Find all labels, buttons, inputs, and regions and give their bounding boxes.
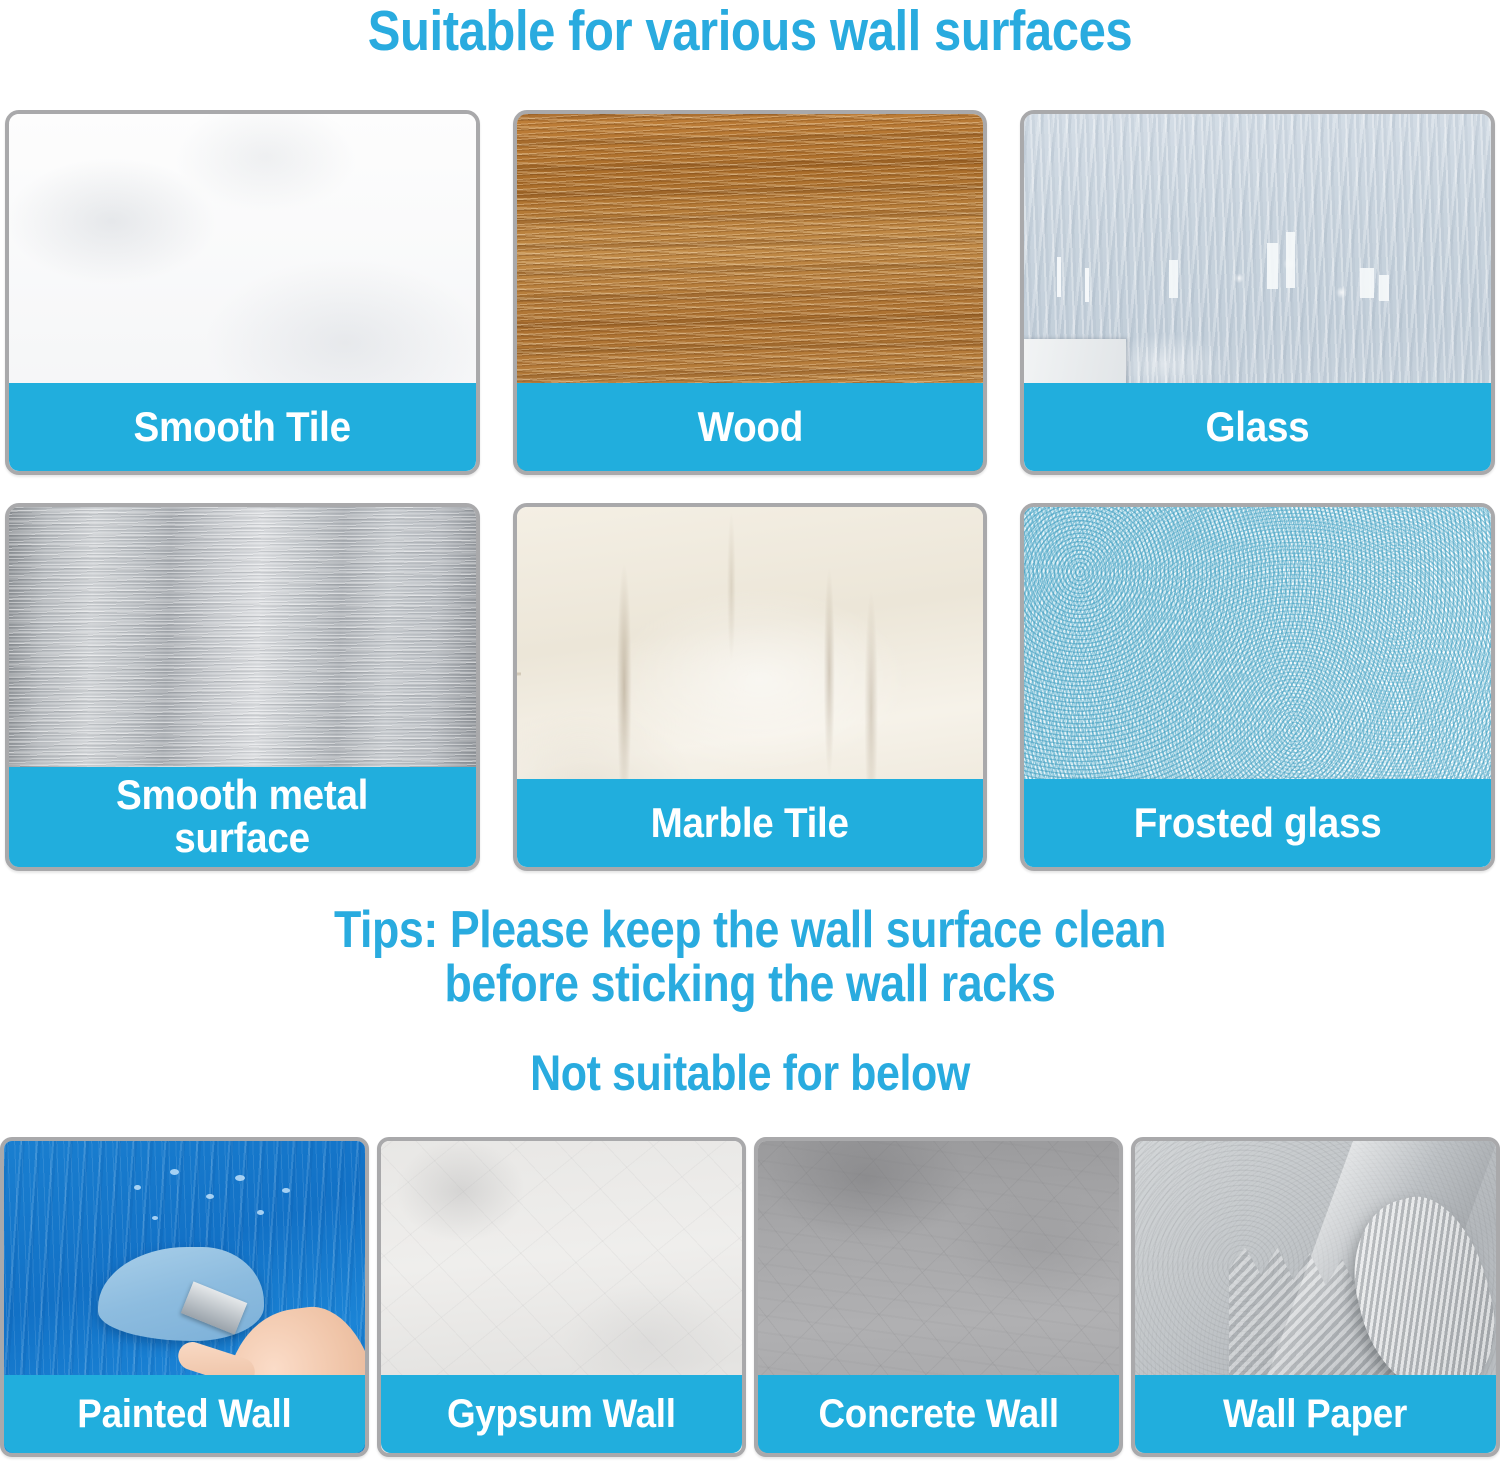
caption-label: Frosted glass (1134, 802, 1382, 845)
page-title-row: Suitable for various wall surfaces (0, 2, 1500, 61)
glass-building-decor (1169, 260, 1178, 298)
surface-card-smooth-tile[interactable]: Smooth Tile (5, 110, 480, 475)
tips-row: Tips: Please keep the wall surface clean… (0, 903, 1500, 1011)
tips-line-2: before sticking the wall racks (105, 957, 1395, 1011)
caption-label-line1: Smooth metal (116, 774, 368, 817)
glass-building-decor (1267, 243, 1278, 289)
glass-pole-decor (1057, 257, 1061, 297)
glass-building-decor (1379, 275, 1389, 301)
caption-label: Marble Tile (651, 802, 849, 845)
surface-card-caption: Smooth Tile (9, 383, 476, 471)
paint-flake-decor (134, 1185, 141, 1190)
surface-card-smooth-metal-surface[interactable]: Smooth metal surface (5, 503, 480, 871)
surface-card-wall-paper[interactable]: Wall Paper (1131, 1137, 1500, 1457)
suitable-surfaces-row-1: Smooth Tile Wood Glass (5, 110, 1495, 475)
surface-card-marble-tile[interactable]: Marble Tile (513, 503, 988, 871)
surface-card-caption: Glass (1024, 383, 1491, 471)
paint-flake-decor (170, 1169, 179, 1175)
glass-pole-decor (1085, 268, 1089, 302)
surface-card-glass[interactable]: Glass (1020, 110, 1495, 475)
surface-card-gypsum-wall[interactable]: Gypsum Wall (377, 1137, 746, 1457)
not-suitable-surfaces-row: Painted Wall Gypsum Wall Concrete Wall W… (0, 1137, 1500, 1457)
paint-flake-decor (152, 1216, 158, 1220)
surface-card-concrete-wall[interactable]: Concrete Wall (754, 1137, 1123, 1457)
glass-building-decor (1286, 232, 1295, 288)
surface-card-caption: Smooth metal surface (9, 767, 476, 867)
not-suitable-heading-row: Not suitable for below (0, 1047, 1500, 1099)
caption-label: Glass (1206, 406, 1310, 449)
caption-label-line2: surface (116, 817, 368, 860)
paint-flake-decor (282, 1188, 290, 1193)
surface-card-caption: Wood (517, 383, 984, 471)
surface-card-caption: Painted Wall (4, 1375, 365, 1453)
caption-label: Concrete Wall (818, 1394, 1058, 1435)
caption-label: Gypsum Wall (447, 1394, 676, 1435)
suitable-surfaces-row-2: Smooth metal surface Marble Tile Frosted… (5, 503, 1495, 871)
surface-card-caption: Concrete Wall (758, 1375, 1119, 1453)
surface-card-painted-wall[interactable]: Painted Wall (0, 1137, 369, 1457)
surface-card-frosted-glass[interactable]: Frosted glass (1020, 503, 1495, 871)
tips-line-1: Tips: Please keep the wall surface clean (105, 903, 1395, 957)
caption-label: Wall Paper (1223, 1394, 1407, 1435)
surface-card-caption: Frosted glass (1024, 779, 1491, 867)
page-title: Suitable for various wall surfaces (105, 2, 1395, 61)
surface-card-caption: Gypsum Wall (381, 1375, 742, 1453)
glass-building-decor (1360, 268, 1374, 298)
caption-label: Wood (697, 406, 802, 449)
caption-label: Smooth Tile (134, 406, 351, 449)
not-suitable-heading: Not suitable for below (105, 1047, 1395, 1099)
caption-label: Painted Wall (77, 1394, 291, 1435)
surface-card-wood[interactable]: Wood (513, 110, 988, 475)
surface-card-caption: Marble Tile (517, 779, 984, 867)
paint-flake-decor (206, 1194, 214, 1199)
paint-flake-decor (257, 1210, 264, 1215)
tips-text: Tips: Please keep the wall surface clean… (105, 903, 1395, 1011)
surface-card-caption: Wall Paper (1135, 1375, 1496, 1453)
peeling-paint-decor (98, 1247, 264, 1341)
paint-flake-decor (235, 1175, 245, 1181)
